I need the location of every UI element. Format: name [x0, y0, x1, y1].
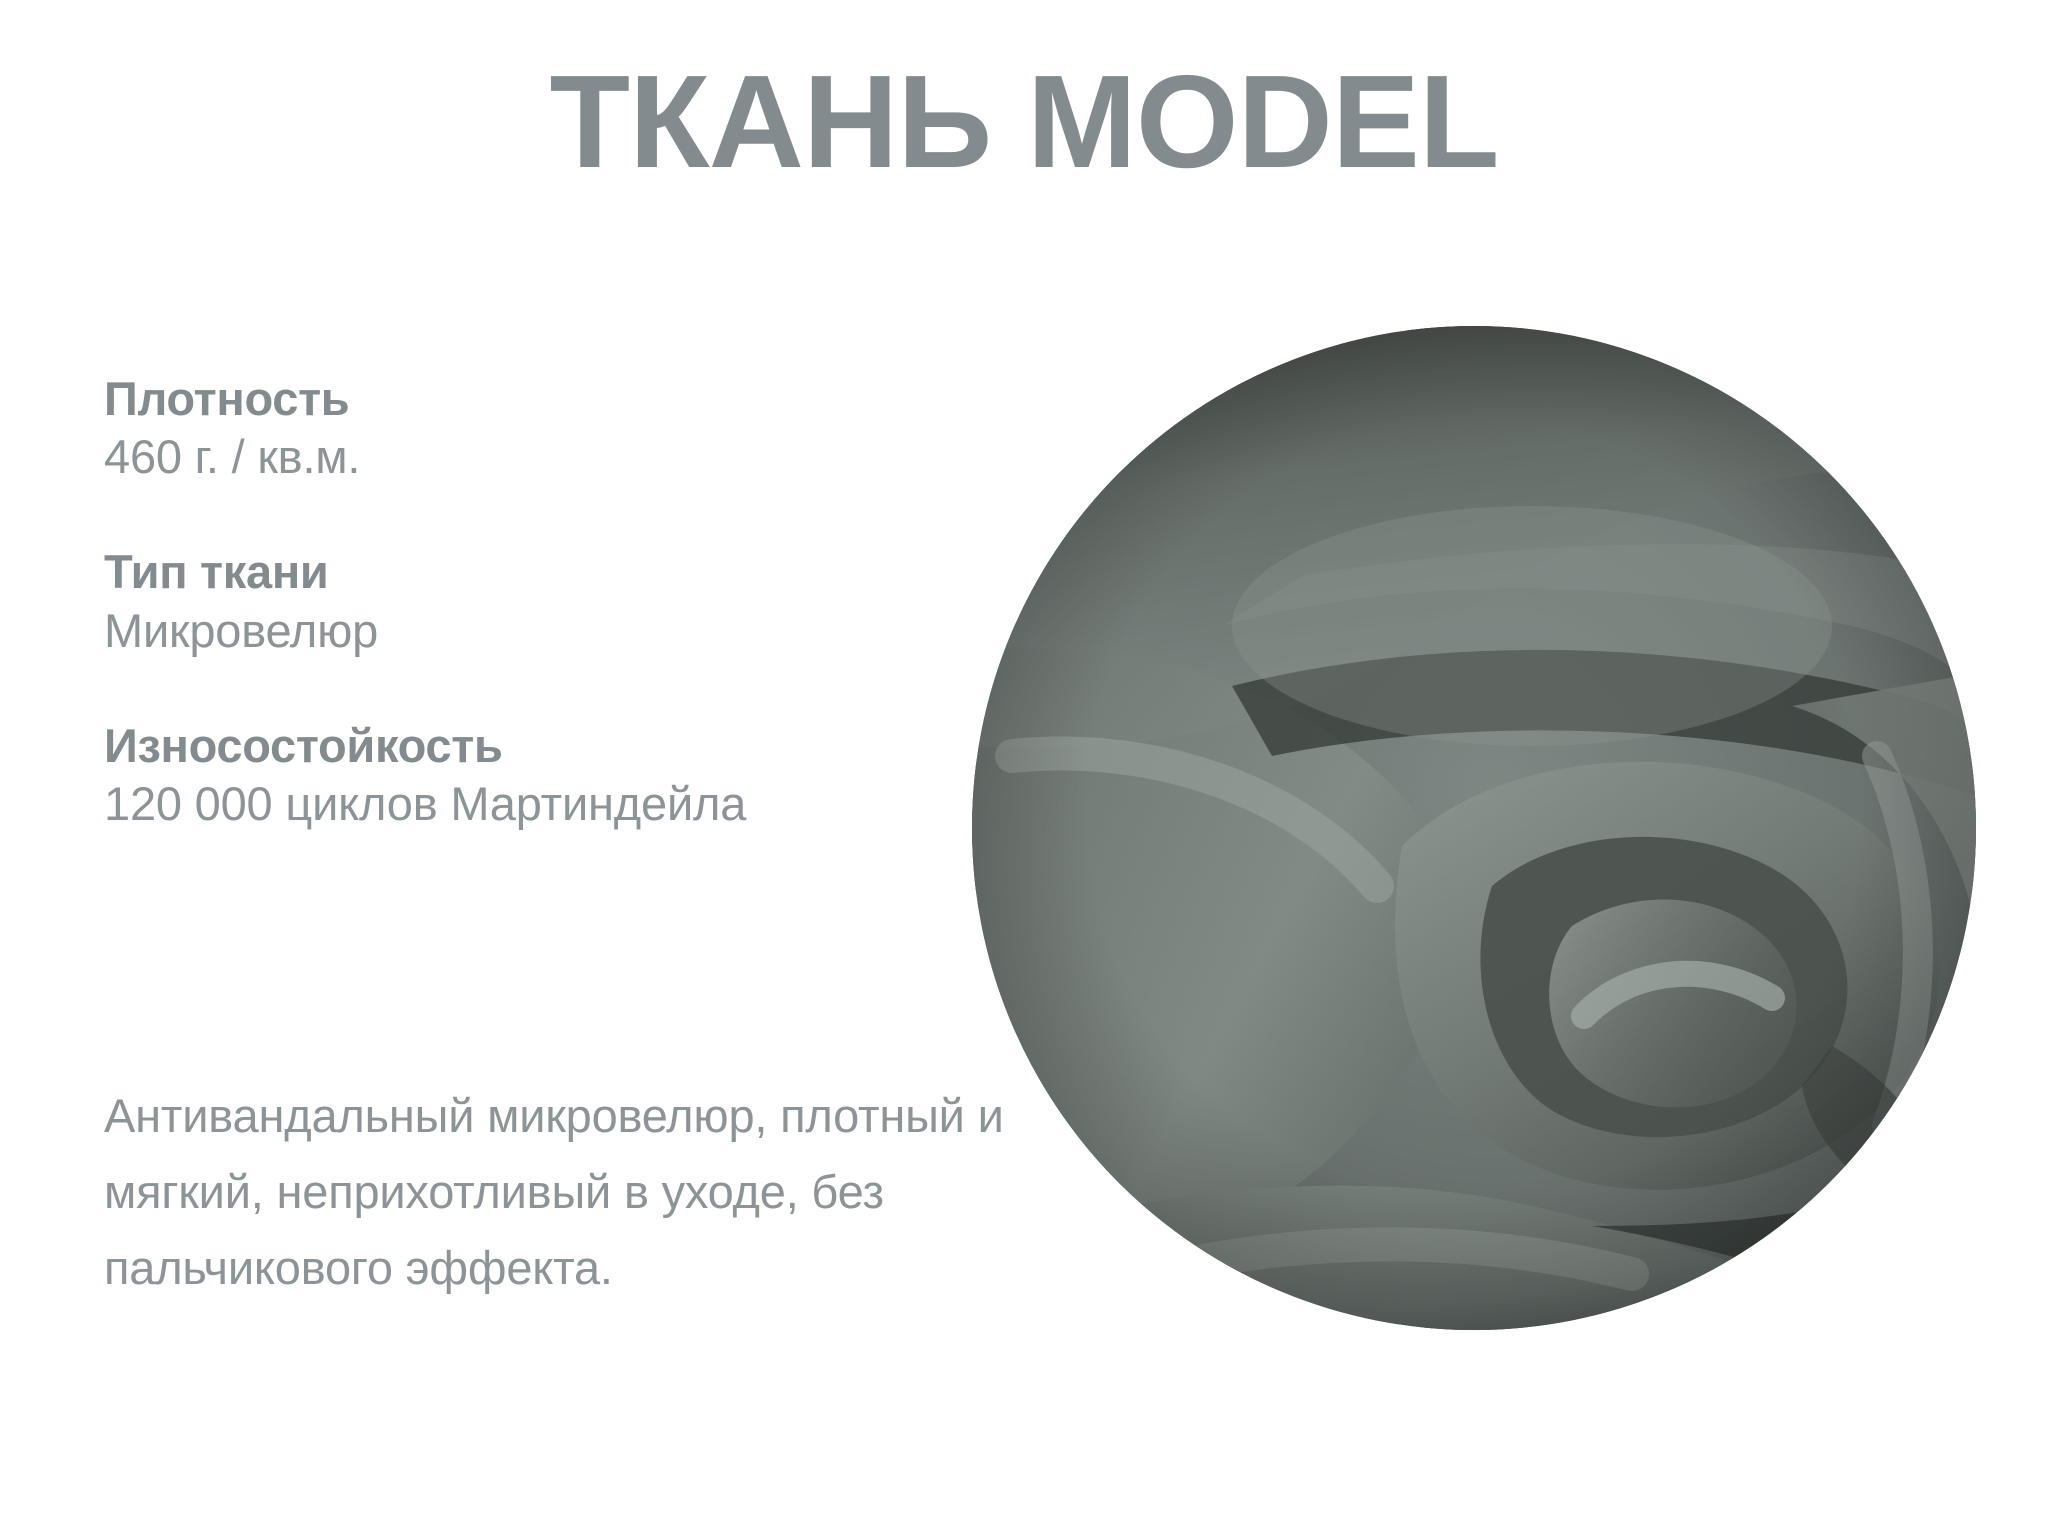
description-text: Антивандальный микровелюр, плотный и мяг…	[104, 1078, 1024, 1306]
spec-value-density: 460 г. / кв.м.	[104, 427, 984, 487]
spec-value-durability: 120 000 циклов Мартиндейла	[104, 774, 984, 834]
spec-item-fabric-type: Тип ткани Микровелюр	[104, 543, 984, 660]
spec-value-fabric-type: Микровелюр	[104, 601, 984, 661]
spec-label-density: Плотность	[104, 370, 984, 427]
spec-list: Плотность 460 г. / кв.м. Тип ткани Микро…	[104, 370, 984, 834]
spec-label-fabric-type: Тип ткани	[104, 543, 984, 600]
page-title: ТКАНЬ MODEL	[0, 48, 2048, 196]
spec-label-durability: Износостойкость	[104, 717, 984, 774]
fabric-swatch-photo	[972, 326, 1976, 1330]
spec-item-density: Плотность 460 г. / кв.м.	[104, 370, 984, 487]
fabric-illustration	[972, 326, 1976, 1330]
slide-root: ТКАНЬ MODEL Плотность 460 г. / кв.м. Тип…	[0, 0, 2048, 1536]
spec-item-durability: Износостойкость 120 000 циклов Мартиндей…	[104, 717, 984, 834]
